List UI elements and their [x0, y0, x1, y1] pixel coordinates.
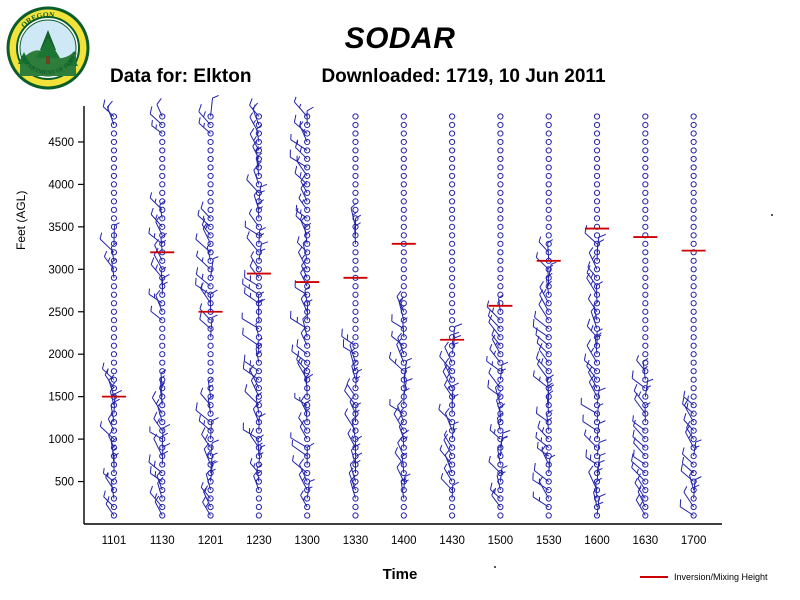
artifact-speck — [771, 214, 773, 216]
y-tick-label: 500 — [55, 477, 74, 489]
y-tick-label: 1000 — [48, 434, 74, 446]
y-axis-label: Feet (AGL) — [14, 191, 28, 250]
x-tick-label: 1430 — [439, 535, 465, 547]
artifact-speck — [494, 566, 496, 568]
x-tick-label: 1201 — [198, 535, 224, 547]
y-tick-label: 2000 — [48, 349, 74, 361]
y-tick-label: 3500 — [48, 222, 74, 234]
x-tick-label: 1500 — [488, 535, 514, 547]
y-tick-label: 1500 — [48, 392, 74, 404]
x-tick-label: 1700 — [681, 535, 707, 547]
x-tick-label: 1530 — [536, 535, 562, 547]
x-tick-label: 1130 — [150, 535, 175, 547]
x-tick-label: 1330 — [343, 535, 369, 547]
x-tick-label: 1400 — [391, 535, 417, 547]
y-tick-label: 3000 — [48, 264, 74, 276]
plot-canvas: 5001000150020002500300035004000450011011… — [0, 0, 800, 600]
sodar-chart: 5001000150020002500300035004000450011011… — [0, 0, 800, 600]
x-tick-label: 1600 — [584, 535, 610, 547]
screenshot-root: OREGON DEPARTMENT OF FORESTRY SODAR Data… — [0, 0, 800, 600]
y-tick-label: 4000 — [48, 179, 74, 191]
legend-label-inversion: Inversion/Mixing Height — [674, 572, 768, 582]
x-tick-label: 1230 — [246, 535, 272, 547]
y-tick-label: 2500 — [48, 307, 74, 319]
x-tick-label: 1101 — [102, 535, 127, 547]
x-tick-label: 1630 — [633, 535, 659, 547]
chart-legend: Inversion/Mixing Height — [640, 572, 768, 582]
legend-swatch-inversion-icon — [640, 576, 668, 578]
y-tick-label: 4500 — [48, 137, 74, 149]
x-tick-label: 1300 — [294, 535, 320, 547]
